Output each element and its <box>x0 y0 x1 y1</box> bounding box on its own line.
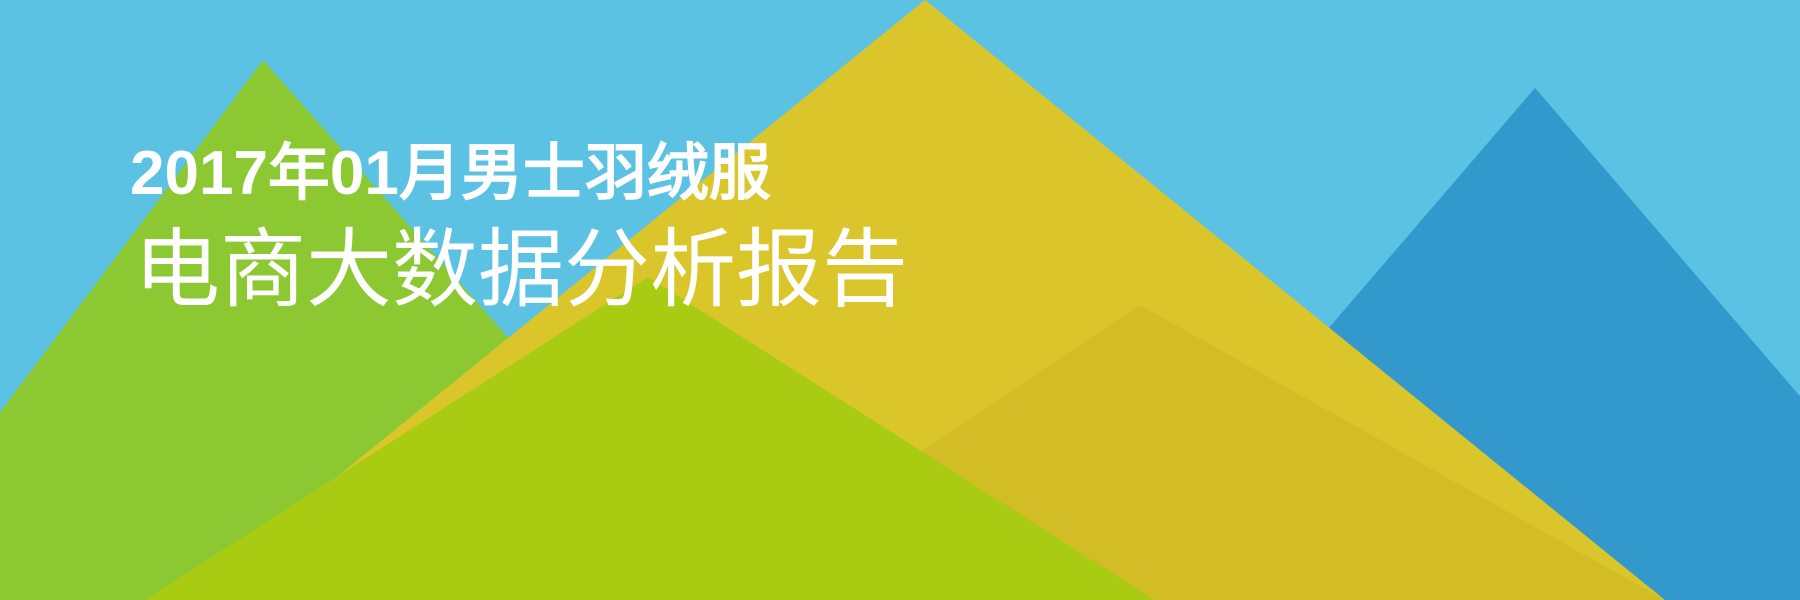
cover-title-block: 2017年01月男士羽绒服 电商大数据分析报告 <box>130 136 908 320</box>
title-line-primary: 2017年01月男士羽绒服 <box>130 136 908 212</box>
title-line-secondary: 电商大数据分析报告 <box>130 220 908 320</box>
report-cover-banner: 2017年01月男士羽绒服 电商大数据分析报告 <box>0 0 1800 600</box>
